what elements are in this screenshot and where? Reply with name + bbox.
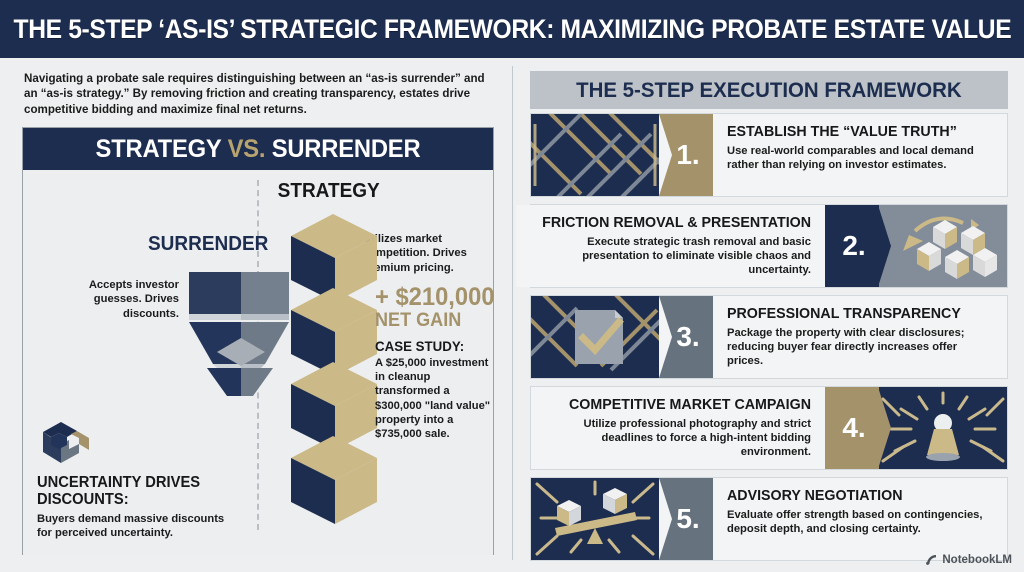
framework-header: THE 5-STEP EXECUTION FRAMEWORK — [530, 71, 1008, 109]
right-column: THE 5-STEP EXECUTION FRAMEWORK — [521, 58, 1016, 572]
notebooklm-logo-icon — [925, 553, 938, 566]
surrender-label: SURRENDER — [148, 233, 262, 256]
uncertainty-block: UNCERTAINTY DRIVES DISCOUNTS: Buyers dem… — [37, 418, 227, 541]
column-divider — [512, 66, 513, 560]
net-gain-block: + $210,000 NET GAIN CASE STUDY: A $25,00… — [375, 285, 491, 441]
case-study-body: A $25,000 investment in cleanup transfor… — [375, 356, 491, 441]
strategy-vs-surrender-card: STRATEGY VS. SURRENDER STRATEGY SURRENDE… — [22, 127, 494, 555]
step-number-4: 4. — [842, 412, 865, 444]
framework-title: THE 5-STEP EXECUTION FRAMEWORK — [576, 78, 961, 103]
step-text-5: ADVISORY NEGOTIATION Evaluate offer stre… — [713, 478, 1007, 560]
compare-title-strategy: STRATEGY — [96, 135, 228, 163]
broken-cube-icon — [37, 418, 95, 470]
step-text-3: PROFESSIONAL TRANSPARENCY Package the pr… — [713, 296, 1007, 378]
crosshatch-lattice-icon — [531, 114, 659, 196]
step-number-badge-5: 5. — [659, 478, 713, 560]
step-text-1: ESTABLISH THE “VALUE TRUTH” Use real-wor… — [713, 114, 1007, 196]
infographic-page: THE 5-STEP ‘AS-IS’ STRATEGIC FRAMEWORK: … — [0, 0, 1024, 572]
intro-paragraph: Navigating a probate sale requires disti… — [24, 71, 494, 117]
step-number-badge-1: 1. — [659, 114, 713, 196]
step-number-5: 5. — [676, 503, 699, 535]
uncertainty-title: UNCERTAINTY DRIVES DISCOUNTS: — [37, 474, 218, 508]
step-number-badge-4: 4. — [825, 387, 879, 469]
step-title-3: PROFESSIONAL TRANSPARENCY — [727, 306, 982, 323]
uncertainty-body: Buyers demand massive discounts for perc… — [37, 512, 227, 541]
step-text-2: FRICTION REMOVAL & PRESENTATION Execute … — [516, 205, 825, 287]
step-desc-4: Utilize professional photography and str… — [543, 417, 811, 460]
step-number-1: 1. — [676, 139, 699, 171]
compare-card-title: STRATEGY VS. SURRENDER — [96, 135, 421, 164]
compare-card-header: STRATEGY VS. SURRENDER — [23, 128, 493, 170]
step-row-5[interactable]: 5. ADVISORY NEGOTIATION Evaluate offer s… — [530, 477, 1008, 561]
compare-card-body: STRATEGY SURRENDER Accepts investor gues… — [23, 170, 493, 555]
step-row-3[interactable]: 3. PROFESSIONAL TRANSPARENCY Package the… — [530, 295, 1008, 379]
compare-title-surrender: SURRENDER — [265, 135, 420, 163]
downward-arrow-icon — [183, 268, 295, 400]
compare-title-vs: VS. — [228, 135, 266, 163]
stacked-boxes-recycle-icon — [879, 205, 1007, 287]
surrender-description: Accepts investor guesses. Drives discoun… — [61, 278, 179, 321]
step-number-2: 2. — [842, 230, 865, 262]
step-title-2: FRICTION REMOVAL & PRESENTATION — [542, 215, 811, 232]
step-text-4: COMPETITIVE MARKET CAMPAIGN Utilize prof… — [531, 387, 825, 469]
step-number-badge-3: 3. — [659, 296, 713, 378]
step-number-3: 3. — [676, 321, 699, 353]
step-number-badge-2: 2. — [825, 205, 879, 287]
step-desc-2: Execute strategic trash removal and basi… — [528, 235, 811, 278]
balance-scale-icon — [531, 478, 659, 560]
cube-stack-graphic — [281, 210, 385, 535]
step-row-4[interactable]: 4. COMPETITIVE MARKET CAMPAIGN Utilize p… — [530, 386, 1008, 470]
step-desc-1: Use real-world comparables and local dem… — [727, 144, 995, 172]
step-row-1[interactable]: 1. ESTABLISH THE “VALUE TRUTH” Use real-… — [530, 113, 1008, 197]
case-study-title: CASE STUDY: — [375, 338, 485, 354]
steps-list: 1. ESTABLISH THE “VALUE TRUTH” Use real-… — [530, 113, 1008, 568]
step-desc-5: Evaluate offer strength based on conting… — [727, 508, 995, 536]
page-header: THE 5-STEP ‘AS-IS’ STRATEGIC FRAMEWORK: … — [0, 0, 1024, 58]
document-checkmark-icon — [531, 296, 659, 378]
step-desc-3: Package the property with clear disclosu… — [727, 326, 995, 369]
watermark: NotebookLM — [925, 553, 1012, 566]
net-gain-amount: + $210,000 — [375, 285, 485, 310]
step-row-2[interactable]: 2. FRICTION REMOVAL & PRESENTATION Execu… — [530, 204, 1008, 288]
strategy-label: STRATEGY — [278, 180, 380, 203]
spotlight-beam-icon — [879, 387, 1007, 469]
step-title-4: COMPETITIVE MARKET CAMPAIGN — [556, 397, 811, 414]
step-title-1: ESTABLISH THE “VALUE TRUTH” — [727, 124, 982, 141]
net-gain-label: NET GAIN — [375, 311, 485, 331]
step-title-5: ADVISORY NEGOTIATION — [727, 488, 982, 505]
watermark-label: NotebookLM — [942, 554, 1012, 566]
left-column: Navigating a probate sale requires disti… — [0, 58, 512, 572]
page-title: THE 5-STEP ‘AS-IS’ STRATEGIC FRAMEWORK: … — [13, 14, 1011, 45]
